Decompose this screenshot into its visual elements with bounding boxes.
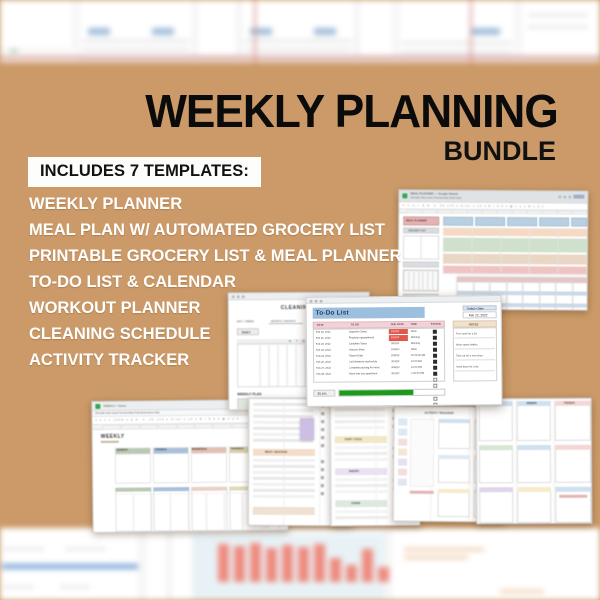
status-checkbox[interactable] — [433, 384, 437, 388]
mockup-accent-sliver — [300, 418, 314, 440]
note-text: Need leave for a dry — [456, 365, 496, 368]
bg-sheet — [358, 0, 394, 60]
bg-line — [404, 548, 484, 551]
workout-card-header — [479, 445, 513, 450]
template-list-item: TO-DO LIST & CALENDAR — [29, 274, 429, 291]
list-row — [335, 452, 387, 455]
bg-bar — [362, 549, 373, 582]
workout-card — [555, 487, 591, 523]
day-header-label: WEDNESDAY — [192, 448, 207, 451]
notes-footer — [253, 507, 315, 515]
bg-bar — [330, 558, 341, 582]
bg-line — [60, 586, 90, 588]
category-label: DAIRY / EGGS — [345, 438, 362, 441]
workout-card — [555, 445, 591, 483]
list-row — [253, 483, 315, 486]
share-button[interactable] — [573, 195, 584, 199]
template-list-item: PRINTABLE GROCERY LIST & MEAL PLANNER — [29, 248, 429, 265]
list-row — [253, 477, 315, 480]
brand-underline — [101, 441, 119, 443]
list-row — [253, 403, 313, 406]
bg-bar — [266, 548, 277, 582]
tracker-total — [410, 491, 434, 494]
bg-line — [66, 548, 106, 550]
template-list-item: WEEKLY PLANNER — [29, 196, 429, 213]
list-row — [335, 408, 385, 411]
list-row — [335, 484, 387, 487]
bg-bar — [218, 544, 229, 582]
list-row — [253, 465, 315, 468]
tracker-card-header — [438, 419, 470, 423]
note-text: Take car for a new shop — [456, 354, 496, 357]
bg-bar — [282, 545, 293, 582]
tracker-value-column — [410, 419, 435, 487]
day-chip — [398, 449, 407, 456]
workout-card-header — [555, 487, 591, 492]
column-header-status: STATUS — [431, 323, 441, 326]
status-checkbox[interactable] — [433, 372, 437, 376]
list-checkbox[interactable] — [321, 420, 324, 423]
list-checkbox[interactable] — [321, 492, 324, 495]
day-column-header — [443, 217, 473, 226]
bg-bar — [378, 567, 389, 582]
day-chip — [398, 429, 407, 436]
workout-card-label: TUESDAY — [564, 402, 575, 405]
category-label: OTHER — [351, 502, 360, 505]
bg-bar — [314, 544, 325, 582]
status-checkbox[interactable] — [433, 348, 437, 352]
bg-line — [82, 49, 190, 51]
weekly-plan-label: WEEKLY PLAN — [237, 392, 261, 396]
workout-accent-row — [559, 495, 587, 498]
list-checkbox[interactable] — [321, 460, 324, 463]
bg-line — [404, 556, 468, 559]
mockup-workout-planner[interactable]: MONDAY TUESDAY — [476, 398, 593, 525]
status-checkbox[interactable] — [433, 335, 437, 339]
bg-chip — [152, 28, 174, 35]
day-card-header — [153, 487, 189, 491]
workout-card-header — [517, 445, 551, 450]
workout-card-header — [479, 487, 513, 492]
day-chip — [398, 419, 407, 426]
day-header-label: TUESDAY — [155, 448, 167, 451]
day-chip — [398, 479, 407, 486]
progress-label: 35.4% — [317, 391, 326, 395]
list-checkbox[interactable] — [321, 428, 324, 431]
bg-sheet — [520, 0, 600, 60]
list-checkbox[interactable] — [321, 412, 324, 415]
status-checkbox[interactable] — [433, 378, 437, 382]
workout-card — [555, 401, 591, 441]
tracker-card-header — [438, 489, 470, 493]
bg-bar — [346, 565, 357, 582]
template-list-item: MEAL PLAN W/ AUTOMATED GROCERY LIST — [29, 222, 429, 239]
list-row — [253, 459, 315, 462]
day-card-body — [115, 453, 151, 483]
status-checkbox[interactable] — [433, 341, 437, 345]
list-checkbox[interactable] — [321, 468, 324, 471]
bg-chip — [2, 564, 138, 569]
list-checkbox[interactable] — [321, 484, 324, 487]
note-text: Free week for a bit — [456, 332, 496, 335]
category-header — [335, 500, 387, 507]
bg-bar — [250, 543, 261, 582]
bg-bar — [298, 547, 309, 582]
list-row — [253, 409, 313, 412]
workout-card-header — [555, 445, 591, 450]
day-chip — [398, 439, 407, 446]
bg-line — [4, 586, 34, 588]
status-checkbox[interactable] — [433, 396, 437, 400]
workout-card — [517, 487, 551, 523]
today-date-label: Today's Date — [467, 306, 484, 310]
notes-header: NOTES — [469, 322, 479, 326]
day-card-body — [153, 453, 189, 483]
bg-sheet — [144, 528, 168, 600]
day-header-label: THURSDAY — [231, 447, 244, 450]
bg-line — [244, 40, 352, 42]
list-checkbox[interactable] — [321, 436, 324, 439]
day-header-label: MONDAY — [117, 449, 128, 452]
day-column-header — [507, 217, 537, 226]
bg-line — [4, 548, 44, 550]
bg-divider — [470, 0, 472, 62]
bg-sheet — [390, 528, 600, 600]
bg-line — [500, 590, 544, 593]
note-text: Wear sports bottles — [456, 343, 496, 346]
workout-card — [479, 445, 513, 483]
sheet-brand: WEEKLY — [101, 434, 125, 440]
bg-sheet — [0, 0, 74, 50]
list-row — [335, 516, 387, 519]
list-row — [253, 495, 315, 498]
list-row — [335, 478, 387, 481]
list-row — [335, 446, 387, 449]
sheets-icon — [95, 404, 100, 409]
bg-line — [244, 49, 352, 51]
progress-fill — [339, 390, 413, 396]
day-card-header — [115, 487, 151, 491]
bg-chip — [470, 28, 500, 35]
includes-badge: INCLUDES 7 TEMPLATES: — [28, 157, 261, 187]
today-date-value: Feb 22, 2022 — [469, 313, 488, 317]
day-column-header — [571, 218, 587, 227]
list-row — [335, 414, 385, 417]
list-row — [335, 490, 387, 493]
list-row — [253, 489, 315, 492]
workout-card-header — [517, 487, 551, 492]
template-list: WEEKLY PLANNERMEAL PLAN W/ AUTOMATED GRO… — [29, 196, 429, 378]
list-checkbox[interactable] — [321, 444, 324, 447]
workout-card — [517, 445, 551, 483]
bg-line — [402, 42, 512, 44]
tracker-card-header — [438, 455, 470, 459]
bg-line — [528, 26, 588, 28]
bg-line — [82, 40, 190, 42]
page-title: WEEKLY PLANNING — [145, 88, 558, 134]
list-row — [335, 420, 385, 423]
background-bottom-strip — [0, 528, 600, 600]
template-list-item: CLEANING SCHEDULE — [29, 326, 429, 343]
background-top-strip — [0, 0, 600, 62]
bg-sheet — [196, 0, 238, 60]
bg-chip — [314, 28, 336, 35]
day-column-header — [539, 217, 569, 226]
day-card-body — [191, 453, 227, 483]
bg-accent-line — [0, 56, 600, 59]
tracker-title: ACTIVITY TRACKER — [424, 411, 453, 415]
category-header — [335, 468, 387, 475]
day-chip — [398, 469, 407, 476]
day-chip — [398, 459, 407, 466]
bg-line — [402, 51, 512, 53]
list-checkbox[interactable] — [321, 476, 324, 479]
template-list-item: ACTIVITY TRACKER — [29, 352, 429, 369]
list-row — [335, 426, 385, 429]
workout-card — [479, 401, 513, 441]
status-checkbox[interactable] — [433, 329, 437, 333]
window-title: WEEKLY • Saved — [103, 403, 126, 407]
status-checkbox[interactable] — [433, 354, 437, 358]
list-row — [253, 471, 315, 474]
toolbar-icons: ▾ ▾ ▾ ▾ 100% ▾ $ % .0 .00 123 ▾ Arial ▾ … — [96, 417, 240, 422]
list-row — [335, 510, 387, 513]
status-checkbox[interactable] — [433, 366, 437, 370]
workout-card-label: MONDAY — [527, 402, 537, 405]
tracker-card — [438, 419, 470, 449]
category-label: PANTRY — [349, 470, 359, 473]
workout-card — [517, 401, 551, 441]
bg-divider — [254, 0, 256, 62]
template-list-item: WORKOUT PLANNER — [29, 300, 429, 317]
bg-chip — [88, 28, 110, 35]
workout-card — [479, 487, 513, 523]
bg-bar — [234, 546, 245, 582]
day-column-header — [475, 217, 505, 226]
menu-items: File Edit View Insert Format Data Tools … — [95, 411, 159, 415]
category-label: MEAT / SEAFOOD — [265, 450, 287, 453]
status-checkbox[interactable] — [433, 360, 437, 364]
bg-line — [528, 14, 588, 16]
page-subtitle: BUNDLE — [444, 138, 557, 165]
list-row — [335, 458, 387, 461]
day-card-header — [191, 487, 227, 491]
